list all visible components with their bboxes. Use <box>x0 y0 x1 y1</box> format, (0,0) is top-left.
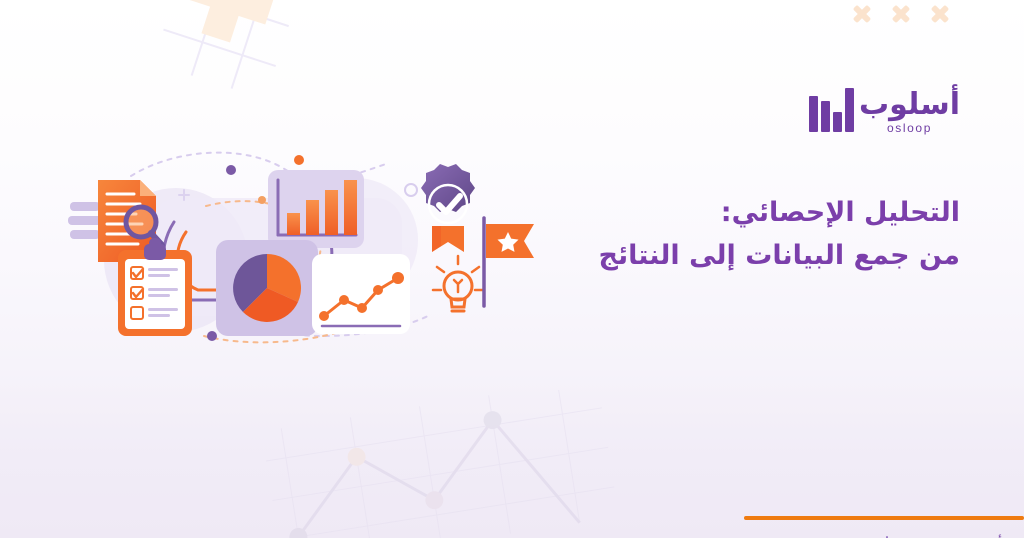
x-mark-icon <box>891 4 911 24</box>
footer-brand: أســـلــوب للتحليل الإحصائي <box>900 534 1002 538</box>
logo-arabic-text: أسلوب <box>859 90 960 120</box>
cross-outline-decoration <box>153 0 302 99</box>
x-mark-icon <box>930 4 950 24</box>
headline: التحليل الإحصائي: من جمع البيانات إلى ال… <box>440 192 960 277</box>
cross-filled-decoration <box>175 0 283 51</box>
watermark-line-chart <box>250 390 680 538</box>
logo-latin-text: osloop <box>887 122 932 134</box>
footer-divider-rule <box>744 516 1024 520</box>
footer-content: أســـلــوب للتحليل الإحصائي app.osloop.i… <box>742 534 1002 538</box>
osloop-logo: أسلوب osloop <box>809 88 960 134</box>
headline-line-2: من جمع البيانات إلى النتائج <box>440 235 960 278</box>
headline-line-1: التحليل الإحصائي: <box>440 192 960 235</box>
logo-wordmark: أسلوب osloop <box>859 90 960 134</box>
footer-brand-line-1: أســـلــوب <box>900 534 1002 538</box>
logo-bar-chart-icon <box>809 88 854 132</box>
poster-canvas: أسلوب osloop التحليل الإحصائي: من جمع ال… <box>0 0 1024 538</box>
x-mark-icon <box>852 4 872 24</box>
